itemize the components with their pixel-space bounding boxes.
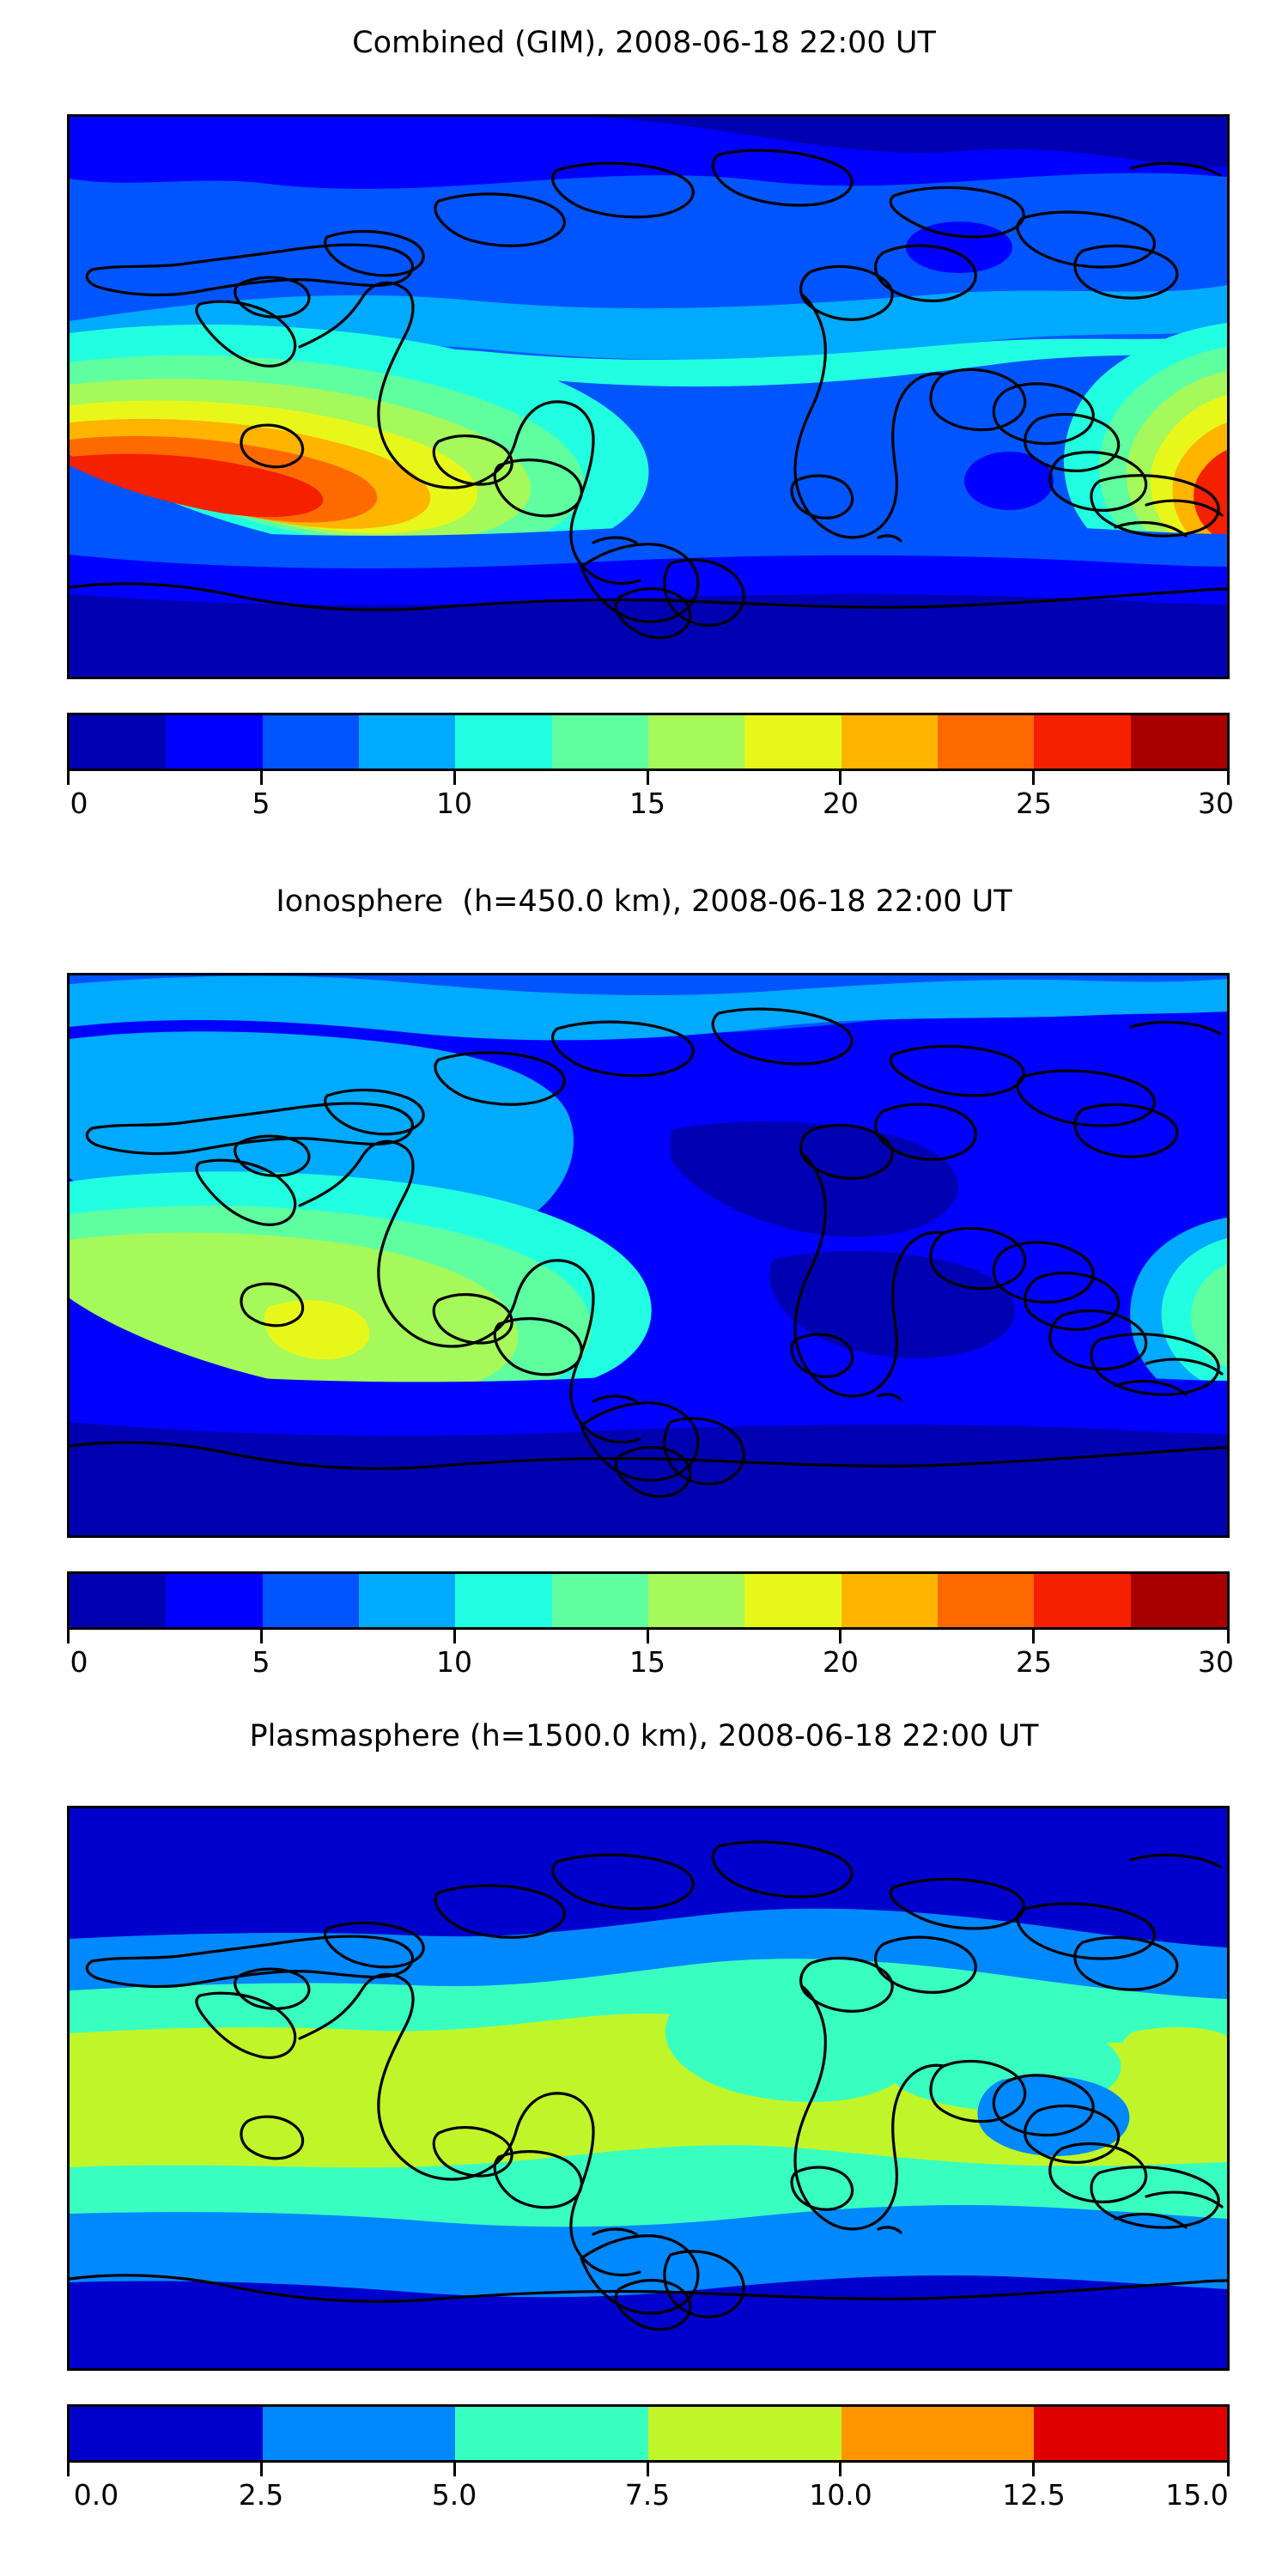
colorbar-tick-label: 7.5 xyxy=(625,2478,670,2512)
panel-title-ionosphere: Ionosphere (h=450.0 km), 2008-06-18 22:0… xyxy=(0,884,1288,919)
colorbar-tick-label: 10 xyxy=(436,787,472,820)
colorbar-tick-label: 15.0 xyxy=(1165,2478,1228,2512)
colorbar-bands-1 xyxy=(67,713,1230,771)
map-combined-gim xyxy=(67,114,1230,679)
colorbar-tick-label: 0.0 xyxy=(74,2478,118,2512)
colorbar-tick-label: 5 xyxy=(252,787,270,820)
map-canvas-1 xyxy=(70,117,1227,677)
panel-title-plasmasphere: Plasmasphere (h=1500.0 km), 2008-06-18 2… xyxy=(0,1719,1288,1753)
map-ionosphere xyxy=(67,973,1230,1538)
panel-title-combined-gim: Combined (GIM), 2008-06-18 22:00 UT xyxy=(0,26,1288,60)
map-canvas-2 xyxy=(70,975,1227,1535)
colorbar-tick-label: 0 xyxy=(70,1645,88,1679)
colorbar-tick-label: 15 xyxy=(629,787,665,820)
colorbar-axis-3: 0.0 2.5 5.0 7.5 10.0 12.5 15.0 xyxy=(67,2463,1230,2516)
colorbar-bands-3 xyxy=(67,2404,1230,2463)
colorbar-tick-label: 10 xyxy=(436,1645,472,1679)
colorbar-tick-label: 5 xyxy=(252,1645,270,1679)
colorbar-tick-label: 2.5 xyxy=(239,2478,283,2512)
colorbar-combined-gim: 0 5 10 15 20 25 30 xyxy=(67,713,1230,824)
colorbar-tick-label: 12.5 xyxy=(1002,2478,1065,2512)
colorbar-ionosphere: 0 5 10 15 20 25 30 xyxy=(67,1571,1230,1683)
colorbar-tick-label: 25 xyxy=(1016,1645,1052,1679)
tec-figure: Combined (GIM), 2008-06-18 22:00 UT xyxy=(0,0,1288,2576)
colorbar-plasmasphere: 0.0 2.5 5.0 7.5 10.0 12.5 15.0 xyxy=(67,2404,1230,2516)
map-canvas-3 xyxy=(70,1808,1227,2368)
colorbar-tick-label: 5.0 xyxy=(432,2478,477,2512)
map-plasmasphere xyxy=(67,1806,1230,2371)
colorbar-tick-label: 30 xyxy=(1198,1645,1234,1679)
colorbar-tick-label: 10.0 xyxy=(809,2478,872,2512)
colorbar-tick-label: 25 xyxy=(1016,787,1052,820)
colorbar-bands-2 xyxy=(67,1571,1230,1630)
colorbar-tick-label: 15 xyxy=(629,1645,665,1679)
colorbar-axis-1: 0 5 10 15 20 25 30 xyxy=(67,771,1230,824)
colorbar-tick-label: 0 xyxy=(70,787,88,820)
colorbar-axis-2: 0 5 10 15 20 25 30 xyxy=(67,1630,1230,1683)
colorbar-tick-label: 20 xyxy=(823,787,859,820)
colorbar-tick-label: 30 xyxy=(1198,787,1234,820)
colorbar-tick-label: 20 xyxy=(823,1645,859,1679)
